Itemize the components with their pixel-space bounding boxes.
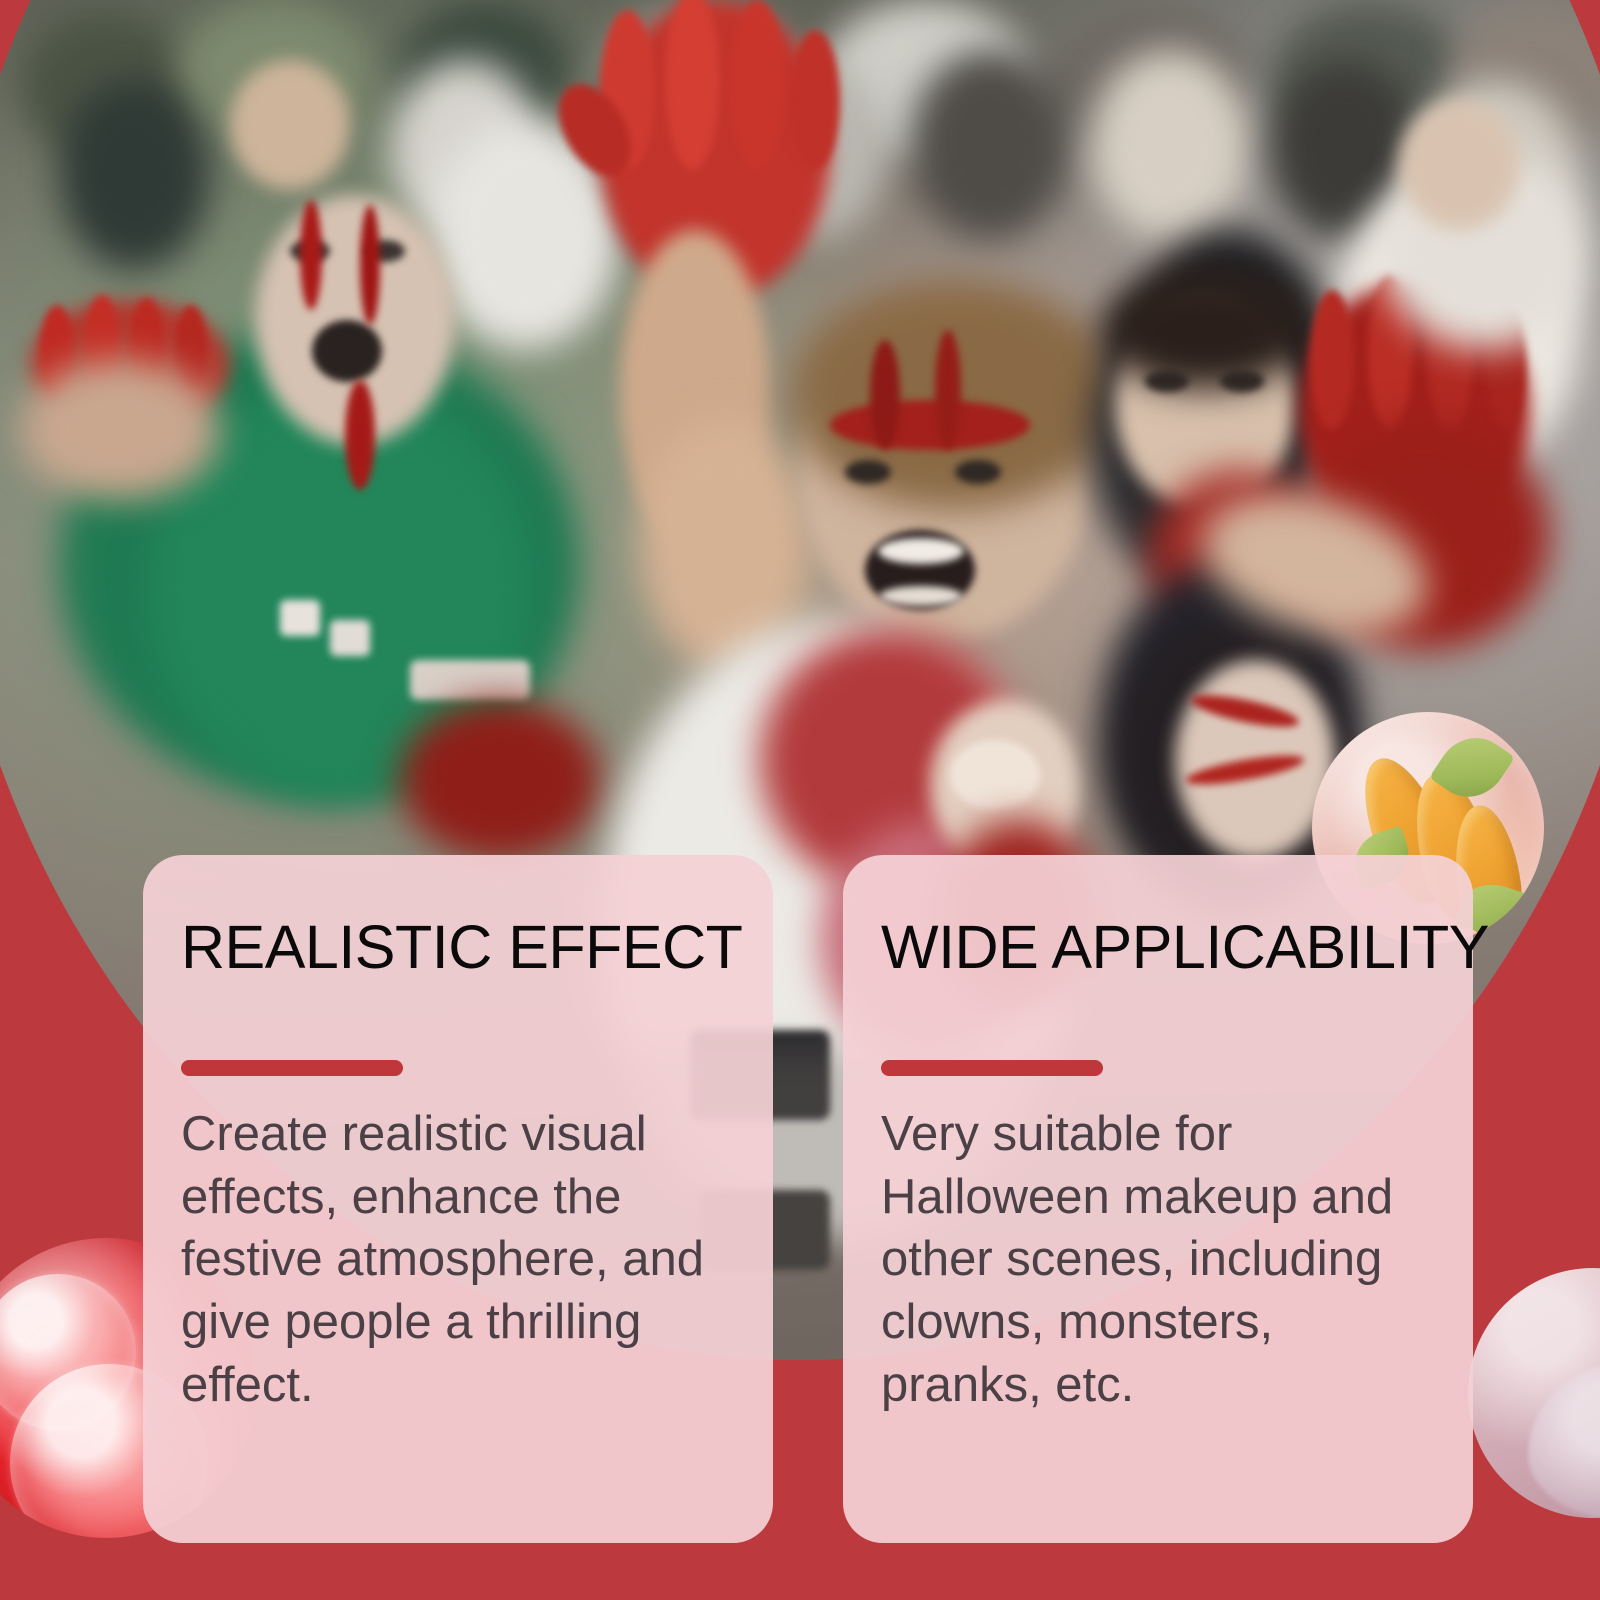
feature-card-realistic-effect: REALISTIC EFFECT Create realistic visual… (143, 855, 773, 1543)
card-accent-rule (181, 1060, 403, 1076)
card-title: REALISTIC EFFECT (181, 917, 742, 978)
feature-cards: REALISTIC EFFECT Create realistic visual… (0, 0, 1600, 1600)
card-title: WIDE APPLICABILITY (881, 917, 1489, 978)
card-body-text: Very suitable for Halloween makeup and o… (881, 1103, 1426, 1417)
card-accent-rule (881, 1060, 1103, 1076)
feature-card-wide-applicability: WIDE APPLICABILITY Very suitable for Hal… (843, 855, 1473, 1543)
card-body-text: Create realistic visual effects, enhance… (181, 1103, 726, 1417)
promo-banner: REALISTIC EFFECT Create realistic visual… (0, 0, 1600, 1600)
